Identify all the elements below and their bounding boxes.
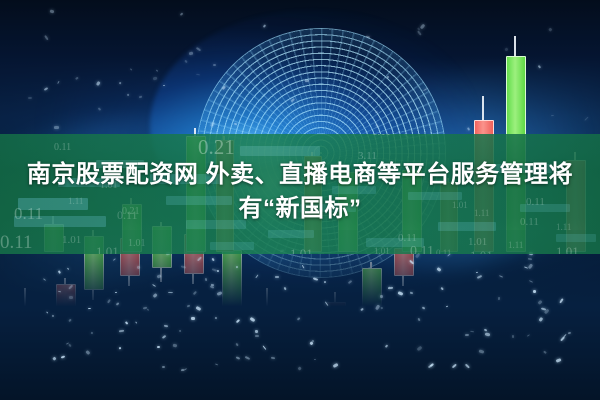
- sparkle-dot: [255, 329, 259, 332]
- headline-line-2: 有“新国标”: [0, 192, 600, 226]
- sparkle-dot: [54, 126, 59, 129]
- sparkle-dot: [69, 296, 73, 299]
- sparkle-dot: [173, 343, 177, 346]
- band-bar: [210, 242, 254, 250]
- sparkle-dot: [387, 76, 389, 78]
- band-bar: [366, 238, 424, 247]
- band-bar: [556, 234, 596, 242]
- news-banner-image: 0.110.211.113.110.111.011.110.110.111.01…: [0, 0, 600, 400]
- sparkle-dot: [119, 329, 124, 331]
- sparkle-dot: [168, 291, 173, 293]
- band-bar: [240, 146, 320, 156]
- background-bottom-vignette: [0, 230, 600, 400]
- headline: 南京股票配资网 外卖、直播电商等平台服务管理将 有“新国标”: [0, 158, 600, 226]
- sparkle-dot: [88, 307, 91, 309]
- sparkle-dot: [191, 317, 195, 320]
- sparkle-dot: [498, 297, 500, 300]
- band-bar: [268, 230, 314, 238]
- sparkle-dot: [533, 290, 536, 293]
- headline-line-1: 南京股票配资网 外卖、直播电商等平台服务管理将: [27, 161, 573, 188]
- sparkle-dot: [146, 308, 148, 310]
- sparkle-dot: [275, 276, 279, 278]
